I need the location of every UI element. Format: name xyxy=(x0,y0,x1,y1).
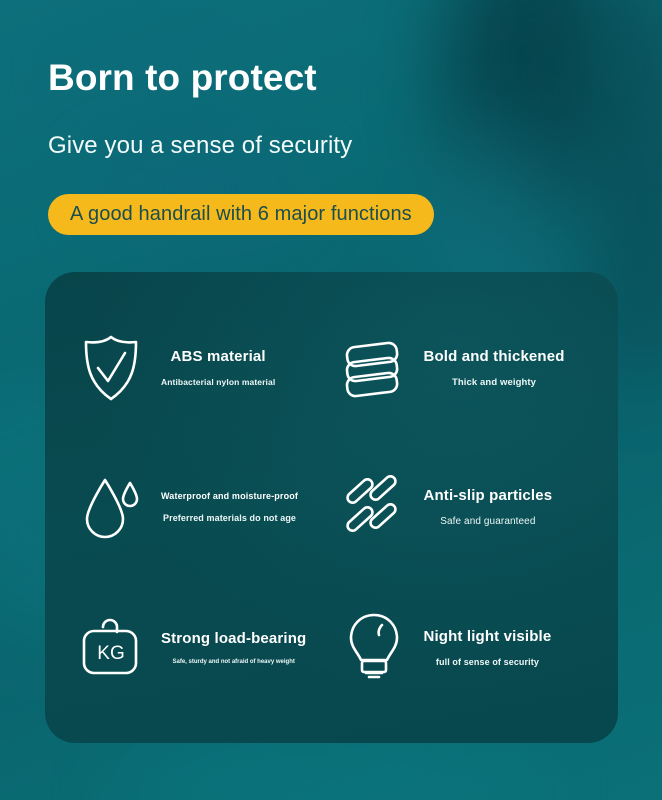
feature-title: Bold and thickened xyxy=(424,348,565,365)
feature-item-bold-and-thickened: Bold and thickened Thick and weighty xyxy=(338,298,601,438)
kg-icon-label: KG xyxy=(97,643,124,664)
kg-weight-icon: KG xyxy=(75,608,147,686)
feature-text: Night light visible full of sense of sec… xyxy=(424,628,552,667)
feature-subtitle: Preferred materials do not age xyxy=(163,513,296,523)
feature-title: Anti-slip particles xyxy=(424,487,553,504)
feature-text: Strong load-bearing Safe, sturdy and not… xyxy=(161,630,306,665)
feature-text: Anti-slip particles Safe and guaranteed xyxy=(424,487,553,527)
feature-subtitle: Safe and guaranteed xyxy=(440,516,535,527)
feature-title: Night light visible xyxy=(424,628,552,645)
feature-item-load-bearing: KG Strong load-bearing Safe, sturdy and … xyxy=(75,577,338,717)
light-bulb-icon xyxy=(338,608,410,686)
feature-text: Waterproof and moisture-proof Preferred … xyxy=(161,491,298,523)
feature-item-night-light: Night light visible full of sense of sec… xyxy=(338,577,601,717)
shield-check-icon xyxy=(75,329,147,407)
anti-slip-particles-icon xyxy=(338,468,410,546)
feature-subtitle: Antibacterial nylon material xyxy=(161,377,275,387)
page-title: Born to protect xyxy=(48,58,317,98)
feature-item-abs-material: ABS material Antibacterial nylon materia… xyxy=(75,298,338,438)
water-drop-icon xyxy=(75,468,147,546)
feature-title: Waterproof and moisture-proof xyxy=(161,491,298,501)
feature-title: ABS material xyxy=(171,348,266,365)
feature-subtitle: Thick and weighty xyxy=(452,377,536,388)
functions-badge: A good handrail with 6 major functions xyxy=(48,194,434,235)
features-grid: ABS material Antibacterial nylon materia… xyxy=(45,272,618,743)
feature-subtitle: full of sense of security xyxy=(436,657,539,667)
feature-text: ABS material Antibacterial nylon materia… xyxy=(161,348,275,387)
feature-text: Bold and thickened Thick and weighty xyxy=(424,348,565,388)
features-card: ABS material Antibacterial nylon materia… xyxy=(45,272,618,743)
feature-title: Strong load-bearing xyxy=(161,630,306,647)
promo-page: Born to protect Give you a sense of secu… xyxy=(0,0,662,800)
page-subtitle: Give you a sense of security xyxy=(48,132,352,160)
stacked-layers-icon xyxy=(338,329,410,407)
feature-item-anti-slip: Anti-slip particles Safe and guaranteed xyxy=(338,438,601,578)
feature-subtitle: Safe, sturdy and not afraid of heavy wei… xyxy=(173,659,295,665)
feature-item-waterproof: Waterproof and moisture-proof Preferred … xyxy=(75,438,338,578)
